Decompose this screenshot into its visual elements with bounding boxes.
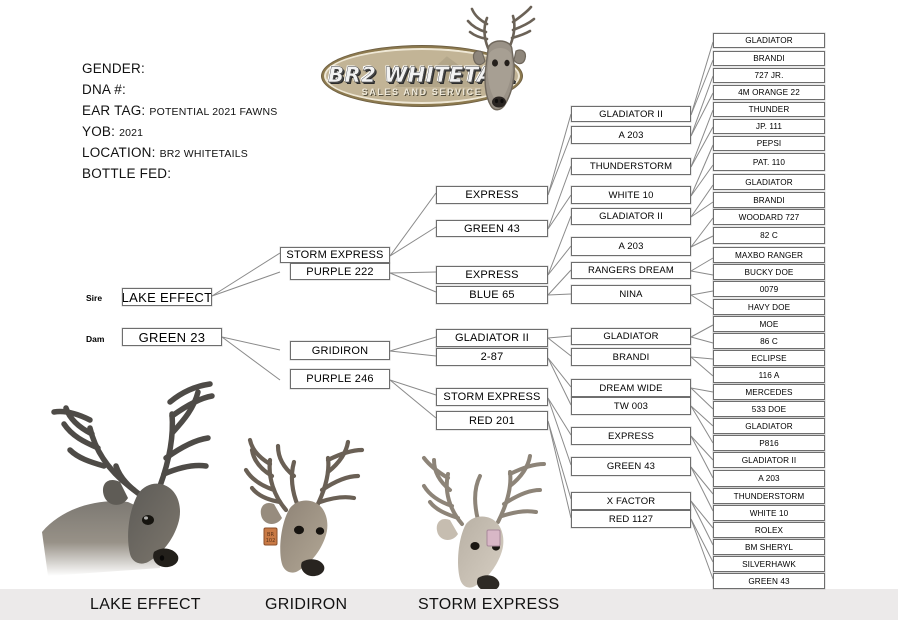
pedigree-box-gen4-31[interactable]: GREEN 43 xyxy=(713,573,825,589)
pedigree-box-gen4-30[interactable]: SILVERHAWK xyxy=(713,556,825,572)
pedigree-box-gen4-24[interactable]: GLADIATOR II xyxy=(713,452,825,468)
pedigree-box-gen4-4[interactable]: THUNDER xyxy=(713,102,825,117)
pedigree-box-gen3-14[interactable]: X FACTOR xyxy=(571,492,691,510)
pedigree-box-gen2-9[interactable]: 2-87 xyxy=(436,348,548,366)
pedigree-box-gen4-15[interactable]: HAVY DOE xyxy=(713,299,825,315)
pedigree-box-gen3-15[interactable]: RED 1127 xyxy=(571,510,691,528)
pedigree-box-gen4-21[interactable]: 533 DOE xyxy=(713,401,825,417)
pedigree-box-gen4-28[interactable]: ROLEX xyxy=(713,522,825,538)
info-value-ear-tag: POTENTIAL 2021 FAWNS xyxy=(149,106,277,118)
label-dam: Dam xyxy=(86,334,104,344)
pedigree-box-gen2-7[interactable]: BLUE 65 xyxy=(436,286,548,304)
brand-logo: BR2 WHITETAIL SALES AND SERVICE xyxy=(322,38,538,110)
pedigree-box-gen3-11[interactable]: TW 003 xyxy=(571,397,691,415)
deer-photo-gridiron: BR 102 xyxy=(212,432,402,594)
pedigree-box-gen3-3[interactable]: WHITE 10 xyxy=(571,186,691,204)
deer-photo-storm-express xyxy=(392,452,574,594)
pedigree-box-gen4-29[interactable]: BM SHERYL xyxy=(713,539,825,555)
pedigree-box-gen3-12[interactable]: EXPRESS xyxy=(571,427,691,445)
pedigree-box-gen4-0[interactable]: GLADIATOR xyxy=(713,33,825,48)
pedigree-chart: GENDER: DNA #: EAR TAG:POTENTIAL 2021 FA… xyxy=(0,0,898,620)
info-value-yob: 2021 xyxy=(119,127,143,139)
pedigree-box-gen4-1[interactable]: BRANDI xyxy=(713,51,825,66)
info-row-location: LOCATION:BR2 WHITETAILS xyxy=(82,142,382,163)
pedigree-box-gen2-1[interactable]: PURPLE 222 xyxy=(290,263,390,280)
pedigree-box-gen4-14[interactable]: 0079 xyxy=(713,281,825,297)
info-label-dna: DNA #: xyxy=(82,82,126,97)
pedigree-box-gen3-4[interactable]: GLADIATOR II xyxy=(571,208,691,225)
pedigree-box-gen1-sire[interactable]: LAKE EFFECT xyxy=(122,288,212,306)
pedigree-box-gen4-19[interactable]: 116 A xyxy=(713,367,825,383)
info-label-location: LOCATION: xyxy=(82,145,156,160)
pedigree-box-gen4-6[interactable]: PEPSI xyxy=(713,136,825,151)
pedigree-box-gen4-12[interactable]: MAXBO RANGER xyxy=(713,247,825,263)
pedigree-box-gen4-8[interactable]: GLADIATOR xyxy=(713,174,825,190)
pedigree-box-gen3-7[interactable]: NINA xyxy=(571,285,691,304)
info-row-bottle-fed: BOTTLE FED: xyxy=(82,163,382,184)
info-label-bottle-fed: BOTTLE FED: xyxy=(82,166,171,181)
pedigree-box-gen2-5[interactable]: GREEN 43 xyxy=(436,220,548,237)
caption-lake-effect: LAKE EFFECT xyxy=(90,596,201,614)
pedigree-box-gen4-27[interactable]: WHITE 10 xyxy=(713,505,825,521)
pedigree-box-gen2-4[interactable]: EXPRESS xyxy=(436,186,548,204)
pedigree-box-gen3-10[interactable]: DREAM WIDE xyxy=(571,379,691,397)
pedigree-box-gen4-17[interactable]: 86 C xyxy=(713,333,825,349)
pedigree-box-gen4-23[interactable]: P816 xyxy=(713,435,825,451)
pedigree-box-gen2-2[interactable]: GRIDIRON xyxy=(290,341,390,360)
caption-gridiron: GRIDIRON xyxy=(265,596,347,614)
info-row-yob: YOB:2021 xyxy=(82,121,382,142)
pedigree-box-gen2-10[interactable]: STORM EXPRESS xyxy=(436,388,548,406)
pedigree-box-gen2-0[interactable]: STORM EXPRESS xyxy=(280,247,390,263)
pedigree-box-gen3-2[interactable]: THUNDERSTORM xyxy=(571,158,691,175)
pedigree-box-gen3-13[interactable]: GREEN 43 xyxy=(571,457,691,476)
pedigree-box-gen3-8[interactable]: GLADIATOR xyxy=(571,328,691,345)
pedigree-box-gen2-3[interactable]: PURPLE 246 xyxy=(290,369,390,389)
info-label-yob: YOB: xyxy=(82,124,115,139)
pedigree-box-gen4-2[interactable]: 727 JR. xyxy=(713,68,825,83)
pedigree-box-gen4-11[interactable]: 82 C xyxy=(713,227,825,244)
pedigree-box-gen4-26[interactable]: THUNDERSTORM xyxy=(713,488,825,504)
pedigree-box-gen3-1[interactable]: A 203 xyxy=(571,126,691,144)
pedigree-box-gen4-22[interactable]: GLADIATOR xyxy=(713,418,825,434)
info-value-location: BR2 WHITETAILS xyxy=(160,148,248,160)
pedigree-box-gen4-20[interactable]: MERCEDES xyxy=(713,384,825,400)
pedigree-box-gen4-13[interactable]: BUCKY DOE xyxy=(713,264,825,280)
pedigree-box-gen1-dam[interactable]: GREEN 23 xyxy=(122,328,222,346)
info-label-ear-tag: EAR TAG: xyxy=(82,103,145,118)
pedigree-box-gen2-6[interactable]: EXPRESS xyxy=(436,266,548,284)
pedigree-box-gen4-16[interactable]: MOE xyxy=(713,316,825,332)
deer-head-icon xyxy=(458,4,544,114)
info-label-gender: GENDER: xyxy=(82,61,145,76)
label-sire: Sire xyxy=(86,293,102,303)
svg-text:102: 102 xyxy=(266,538,276,544)
caption-storm-express: STORM EXPRESS xyxy=(418,596,559,614)
pedigree-box-gen2-11[interactable]: RED 201 xyxy=(436,411,548,430)
pedigree-box-gen3-6[interactable]: RANGERS DREAM xyxy=(571,262,691,279)
pedigree-box-gen4-10[interactable]: WOODARD 727 xyxy=(713,209,825,225)
pedigree-box-gen3-0[interactable]: GLADIATOR II xyxy=(571,106,691,122)
pedigree-box-gen2-8[interactable]: GLADIATOR II xyxy=(436,329,548,347)
pedigree-box-gen4-3[interactable]: 4M ORANGE 22 xyxy=(713,85,825,100)
pedigree-box-gen4-7[interactable]: PAT. 110 xyxy=(713,153,825,171)
pedigree-box-gen4-9[interactable]: BRANDI xyxy=(713,192,825,208)
pedigree-box-gen4-25[interactable]: A 203 xyxy=(713,470,825,487)
pedigree-box-gen3-9[interactable]: BRANDI xyxy=(571,348,691,366)
pedigree-box-gen4-5[interactable]: JP. 111 xyxy=(713,119,825,134)
pedigree-box-gen3-5[interactable]: A 203 xyxy=(571,237,691,256)
pedigree-box-gen4-18[interactable]: ECLIPSE xyxy=(713,350,825,366)
